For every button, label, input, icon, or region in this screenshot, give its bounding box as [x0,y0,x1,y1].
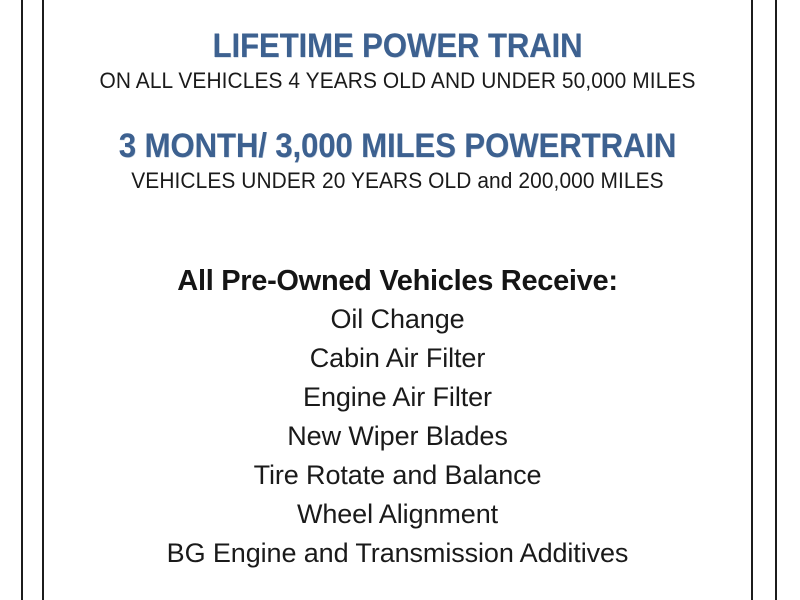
warranty-headline-three-month: 3 MONTH/ 3,000 MILES POWERTRAIN [72,126,722,166]
included-service-item: Tire Rotate and Balance [44,456,751,495]
warranty-subline-three-month: VEHICLES UNDER 20 YEARS OLD and 200,000 … [62,166,734,196]
warranty-offer-three-month: 3 MONTH/ 3,000 MILES POWERTRAIN VEHICLES… [44,96,751,196]
included-service-item: New Wiper Blades [44,417,751,456]
included-services-title: All Pre-Owned Vehicles Receive: [44,262,751,300]
warranty-offer-lifetime: LIFETIME POWER TRAIN ON ALL VEHICLES 4 Y… [44,0,751,96]
included-services-section: All Pre-Owned Vehicles Receive: Oil Chan… [44,196,751,573]
border-rule-left-outer [21,0,23,600]
border-rule-right-outer [775,0,777,600]
included-service-item: Engine Air Filter [44,378,751,417]
included-service-item: Cabin Air Filter [44,339,751,378]
warranty-subline-lifetime: ON ALL VEHICLES 4 YEARS OLD AND UNDER 50… [62,66,734,96]
included-service-item: Oil Change [44,300,751,339]
warranty-headline-lifetime: LIFETIME POWER TRAIN [72,26,722,66]
included-services-list: Oil ChangeCabin Air FilterEngine Air Fil… [44,300,751,573]
included-service-item: Wheel Alignment [44,495,751,534]
included-service-item: BG Engine and Transmission Additives [44,534,751,573]
promotional-flyer: LIFETIME POWER TRAIN ON ALL VEHICLES 4 Y… [0,0,800,600]
border-rule-right-inner [751,0,753,600]
flyer-content: LIFETIME POWER TRAIN ON ALL VEHICLES 4 Y… [44,0,751,600]
